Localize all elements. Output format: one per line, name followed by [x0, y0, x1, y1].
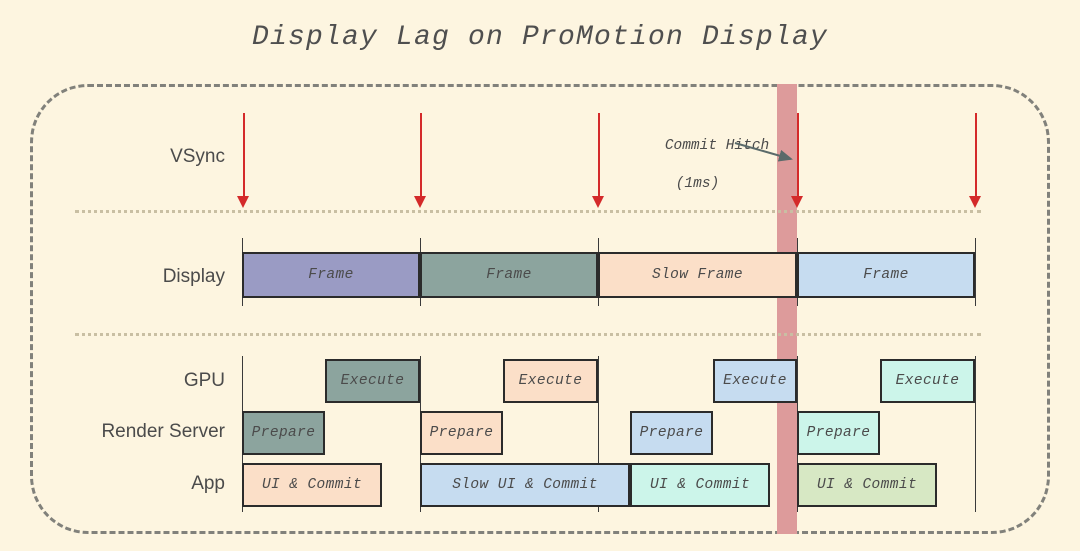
vsync-arrow-head-3	[592, 196, 604, 208]
render-server-block[interactable]: Prepare	[242, 411, 325, 455]
row-label-app: App	[191, 473, 225, 495]
vsync-arrow-5	[975, 113, 977, 197]
render-server-block[interactable]: Prepare	[420, 411, 503, 455]
gpu-block[interactable]: Execute	[713, 359, 797, 403]
display-block[interactable]: Slow Frame	[598, 252, 797, 298]
vsync-arrow-head-4	[791, 196, 803, 208]
app-block[interactable]: UI & Commit	[797, 463, 937, 507]
app-block[interactable]: UI & Commit	[242, 463, 382, 507]
render-server-block-label: Prepare	[252, 425, 316, 441]
commit-hitch-annotation-line2: (1ms)	[630, 175, 765, 194]
display-block-label: Slow Frame	[652, 267, 743, 283]
gpu-block-label: Execute	[723, 373, 787, 389]
row-label-gpu: GPU	[184, 370, 225, 392]
display-block[interactable]: Frame	[797, 252, 975, 298]
vsync-arrow-3	[598, 113, 600, 197]
display-block-label: Frame	[308, 267, 354, 283]
separator-vsync-display	[75, 210, 981, 213]
vsync-arrow-head-2	[414, 196, 426, 208]
vsync-arrow-2	[420, 113, 422, 197]
render-server-block-label: Prepare	[640, 425, 704, 441]
vsync-arrow-head-1	[237, 196, 249, 208]
frame-tick-lower-5	[975, 356, 976, 512]
separator-display-gpu	[75, 333, 981, 336]
gpu-block-label: Execute	[519, 373, 583, 389]
row-label-display: Display	[163, 266, 225, 288]
gpu-block-label: Execute	[896, 373, 960, 389]
render-server-block[interactable]: Prepare	[797, 411, 880, 455]
app-block-label: UI & Commit	[650, 477, 750, 493]
gpu-block-label: Execute	[341, 373, 405, 389]
app-block-label: UI & Commit	[262, 477, 362, 493]
gpu-block[interactable]: Execute	[880, 359, 975, 403]
label-col-vsync: VSync	[60, 146, 225, 170]
display-block-label: Frame	[486, 267, 532, 283]
display-block[interactable]: Frame	[242, 252, 420, 298]
row-label-render-server: Render Server	[101, 421, 225, 443]
app-block-label: Slow UI & Commit	[452, 477, 598, 493]
gpu-block[interactable]: Execute	[503, 359, 598, 403]
diagram-canvas: Display Lag on ProMotion Display VSync D…	[0, 0, 1080, 551]
vsync-arrow-head-5	[969, 196, 981, 208]
vsync-arrow-1	[243, 113, 245, 197]
label-col-display: Display	[60, 266, 225, 290]
gpu-block[interactable]: Execute	[325, 359, 420, 403]
label-col-render-server: Render Server	[60, 421, 225, 445]
label-col-app: App	[60, 473, 225, 497]
page-title: Display Lag on ProMotion Display	[0, 22, 1080, 53]
commit-hitch-annotation: Commit Hitch (1ms)	[630, 118, 765, 232]
app-block[interactable]: UI & Commit	[630, 463, 770, 507]
commit-hitch-pointer-arrow	[735, 140, 805, 170]
app-block-label: UI & Commit	[817, 477, 917, 493]
frame-tick-display-5	[975, 238, 976, 306]
render-server-block-label: Prepare	[430, 425, 494, 441]
display-block-label: Frame	[863, 267, 909, 283]
app-block[interactable]: Slow UI & Commit	[420, 463, 630, 507]
render-server-block-label: Prepare	[807, 425, 871, 441]
label-col-gpu: GPU	[60, 370, 225, 394]
row-label-vsync: VSync	[170, 146, 225, 168]
render-server-block[interactable]: Prepare	[630, 411, 713, 455]
display-block[interactable]: Frame	[420, 252, 598, 298]
